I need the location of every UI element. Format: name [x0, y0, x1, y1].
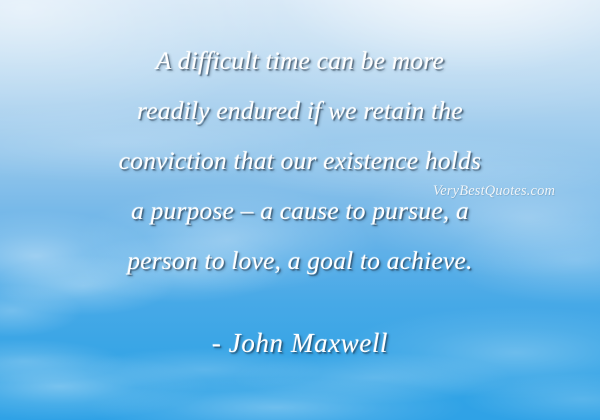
quote-attribution: - John Maxwell — [0, 323, 600, 363]
quote-line: readily endured if we retain the — [0, 86, 600, 136]
quote-line: person to love, a goal to achieve. — [0, 236, 600, 286]
watermark-label: VeryBestQuotes.com — [414, 183, 574, 200]
quote-content: A difficult time can be more readily end… — [0, 0, 600, 420]
quote-line: A difficult time can be more — [0, 36, 600, 86]
quote-line: conviction that our existence holds — [0, 136, 600, 186]
quote-image-card: A difficult time can be more readily end… — [0, 0, 600, 420]
quote-text-block: A difficult time can be more readily end… — [0, 36, 600, 286]
